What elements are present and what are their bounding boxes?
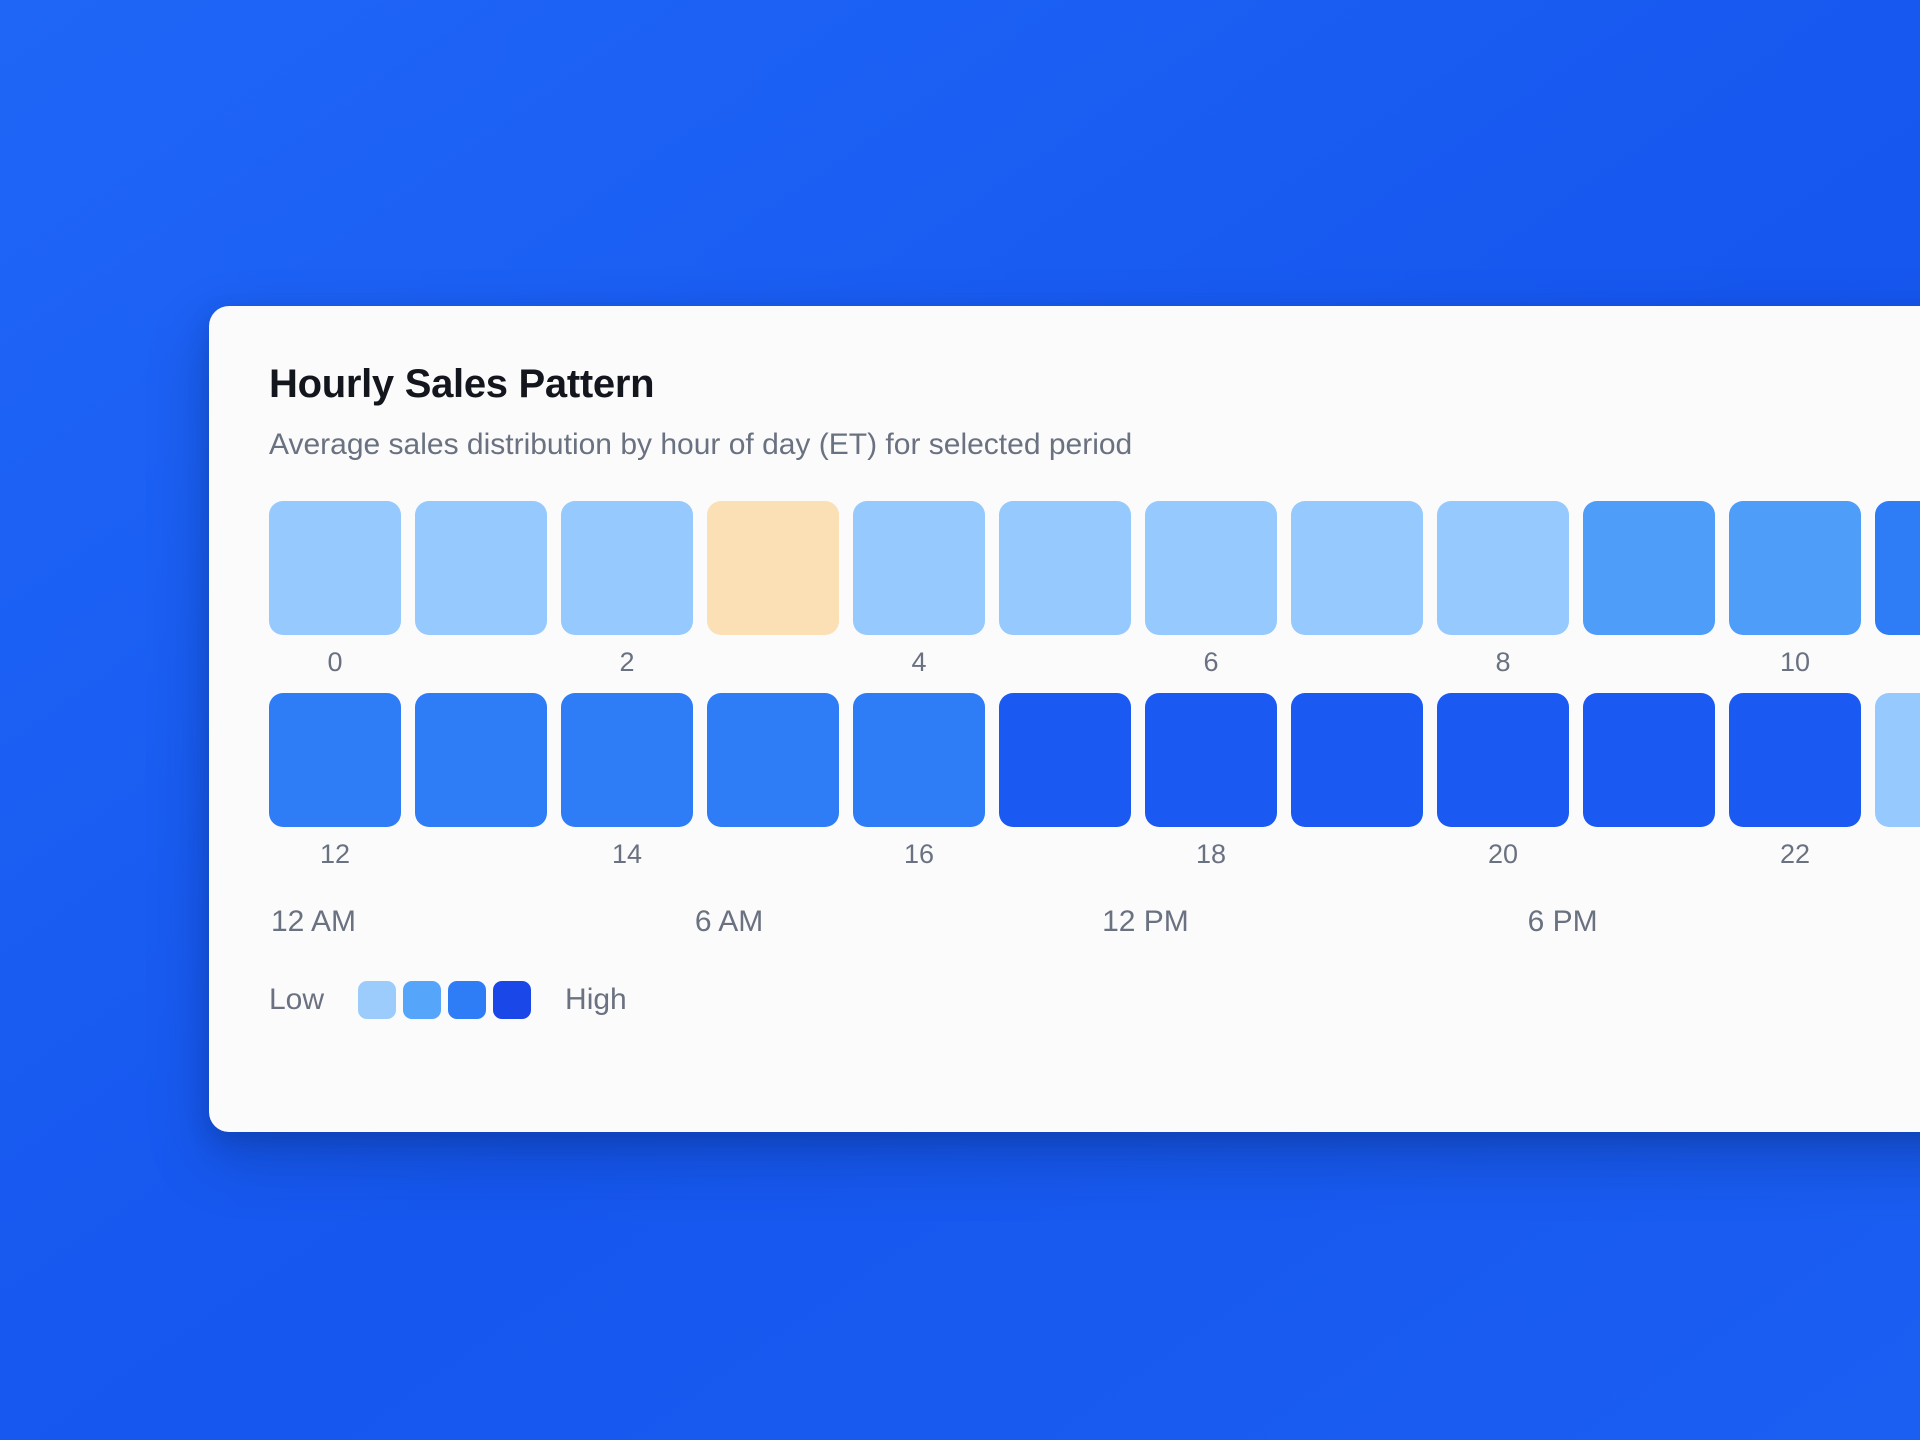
- hour-tick-label-2: 2: [561, 645, 693, 679]
- time-axis-label: 12 PM: [1102, 905, 1189, 939]
- heatmap-cell-hour-1[interactable]: [415, 501, 547, 635]
- heatmap-cell-hour-18[interactable]: [1145, 693, 1277, 827]
- legend-swatch-level-4: [493, 981, 531, 1019]
- heatmap-cell-hour-22[interactable]: [1729, 693, 1861, 827]
- heatmap-cell-hour-0[interactable]: [269, 501, 401, 635]
- heatmap-cell-hour-11[interactable]: [1875, 501, 1920, 635]
- heatmap-cell-hour-14[interactable]: [561, 693, 693, 827]
- heatmap-cell-hour-2[interactable]: [561, 501, 693, 635]
- heatmap-cell-hour-8[interactable]: [1437, 501, 1569, 635]
- heatmap-cell-hour-15[interactable]: [707, 693, 839, 827]
- hour-tick-spacer: [415, 837, 547, 871]
- card-subtitle: Average sales distribution by hour of da…: [269, 428, 1920, 463]
- hour-tick-spacer: [415, 645, 547, 679]
- time-axis: 12 AM 6 AM 12 PM 6 PM 11 PM: [269, 905, 1920, 939]
- hour-tick-label-16: 16: [853, 837, 985, 871]
- hour-tick-spacer: [1875, 837, 1920, 871]
- hour-tick-spacer: [999, 837, 1131, 871]
- hour-tick-label-8: 8: [1437, 645, 1569, 679]
- hour-tick-spacer: [707, 645, 839, 679]
- heatmap-cell-hour-7[interactable]: [1291, 501, 1423, 635]
- hour-tick-spacer: [1291, 645, 1423, 679]
- time-axis-label: 6 PM: [1528, 905, 1598, 939]
- legend-swatch-group: [358, 981, 531, 1019]
- heatmap-cell-hour-20[interactable]: [1437, 693, 1569, 827]
- hour-tick-label-14: 14: [561, 837, 693, 871]
- page-title: Hourly Sales Pattern: [269, 362, 1920, 406]
- hourly-sales-pattern-card: Hourly Sales Pattern Average sales distr…: [209, 306, 1920, 1132]
- heatmap-row-morning: [269, 501, 1920, 635]
- time-axis-label: 6 AM: [695, 905, 763, 939]
- legend-swatch-level-1: [358, 981, 396, 1019]
- time-axis-label: 12 AM: [271, 905, 356, 939]
- heatmap-cell-hour-21[interactable]: [1583, 693, 1715, 827]
- heatmap-cell-hour-9[interactable]: [1583, 501, 1715, 635]
- hour-tick-label-18: 18: [1145, 837, 1277, 871]
- hour-tick-spacer: [1583, 837, 1715, 871]
- heatmap-hour-ticks-evening: 121416182022: [269, 837, 1920, 871]
- heatmap-row-evening: [269, 693, 1920, 827]
- hour-tick-spacer: [999, 645, 1131, 679]
- hour-tick-spacer: [1291, 837, 1423, 871]
- legend-swatch-level-3: [448, 981, 486, 1019]
- heatmap-hour-ticks-morning: 0246810: [269, 645, 1920, 679]
- hour-tick-label-4: 4: [853, 645, 985, 679]
- heatmap-cell-hour-6[interactable]: [1145, 501, 1277, 635]
- hour-tick-spacer: [1583, 645, 1715, 679]
- legend-low-label: Low: [269, 983, 324, 1017]
- heatmap-cell-hour-19[interactable]: [1291, 693, 1423, 827]
- hour-tick-label-6: 6: [1145, 645, 1277, 679]
- heatmap-cell-hour-23[interactable]: [1875, 693, 1920, 827]
- heatmap-cell-hour-10[interactable]: [1729, 501, 1861, 635]
- heatmap-cell-hour-4[interactable]: [853, 501, 985, 635]
- intensity-legend: Low High: [269, 981, 1920, 1019]
- hour-tick-label-0: 0: [269, 645, 401, 679]
- heatmap-cell-hour-3[interactable]: [707, 501, 839, 635]
- legend-high-label: High: [565, 983, 627, 1017]
- hour-tick-spacer: [707, 837, 839, 871]
- legend-swatch-level-2: [403, 981, 441, 1019]
- hour-tick-label-10: 10: [1729, 645, 1861, 679]
- heatmap-cell-hour-13[interactable]: [415, 693, 547, 827]
- heatmap-cell-hour-5[interactable]: [999, 501, 1131, 635]
- hour-tick-spacer: [1875, 645, 1920, 679]
- hour-tick-label-12: 12: [269, 837, 401, 871]
- heatmap-cell-hour-12[interactable]: [269, 693, 401, 827]
- heatmap-cell-hour-17[interactable]: [999, 693, 1131, 827]
- heatmap-grid: 0246810 121416182022: [269, 501, 1920, 871]
- hour-tick-label-22: 22: [1729, 837, 1861, 871]
- heatmap-cell-hour-16[interactable]: [853, 693, 985, 827]
- hour-tick-label-20: 20: [1437, 837, 1569, 871]
